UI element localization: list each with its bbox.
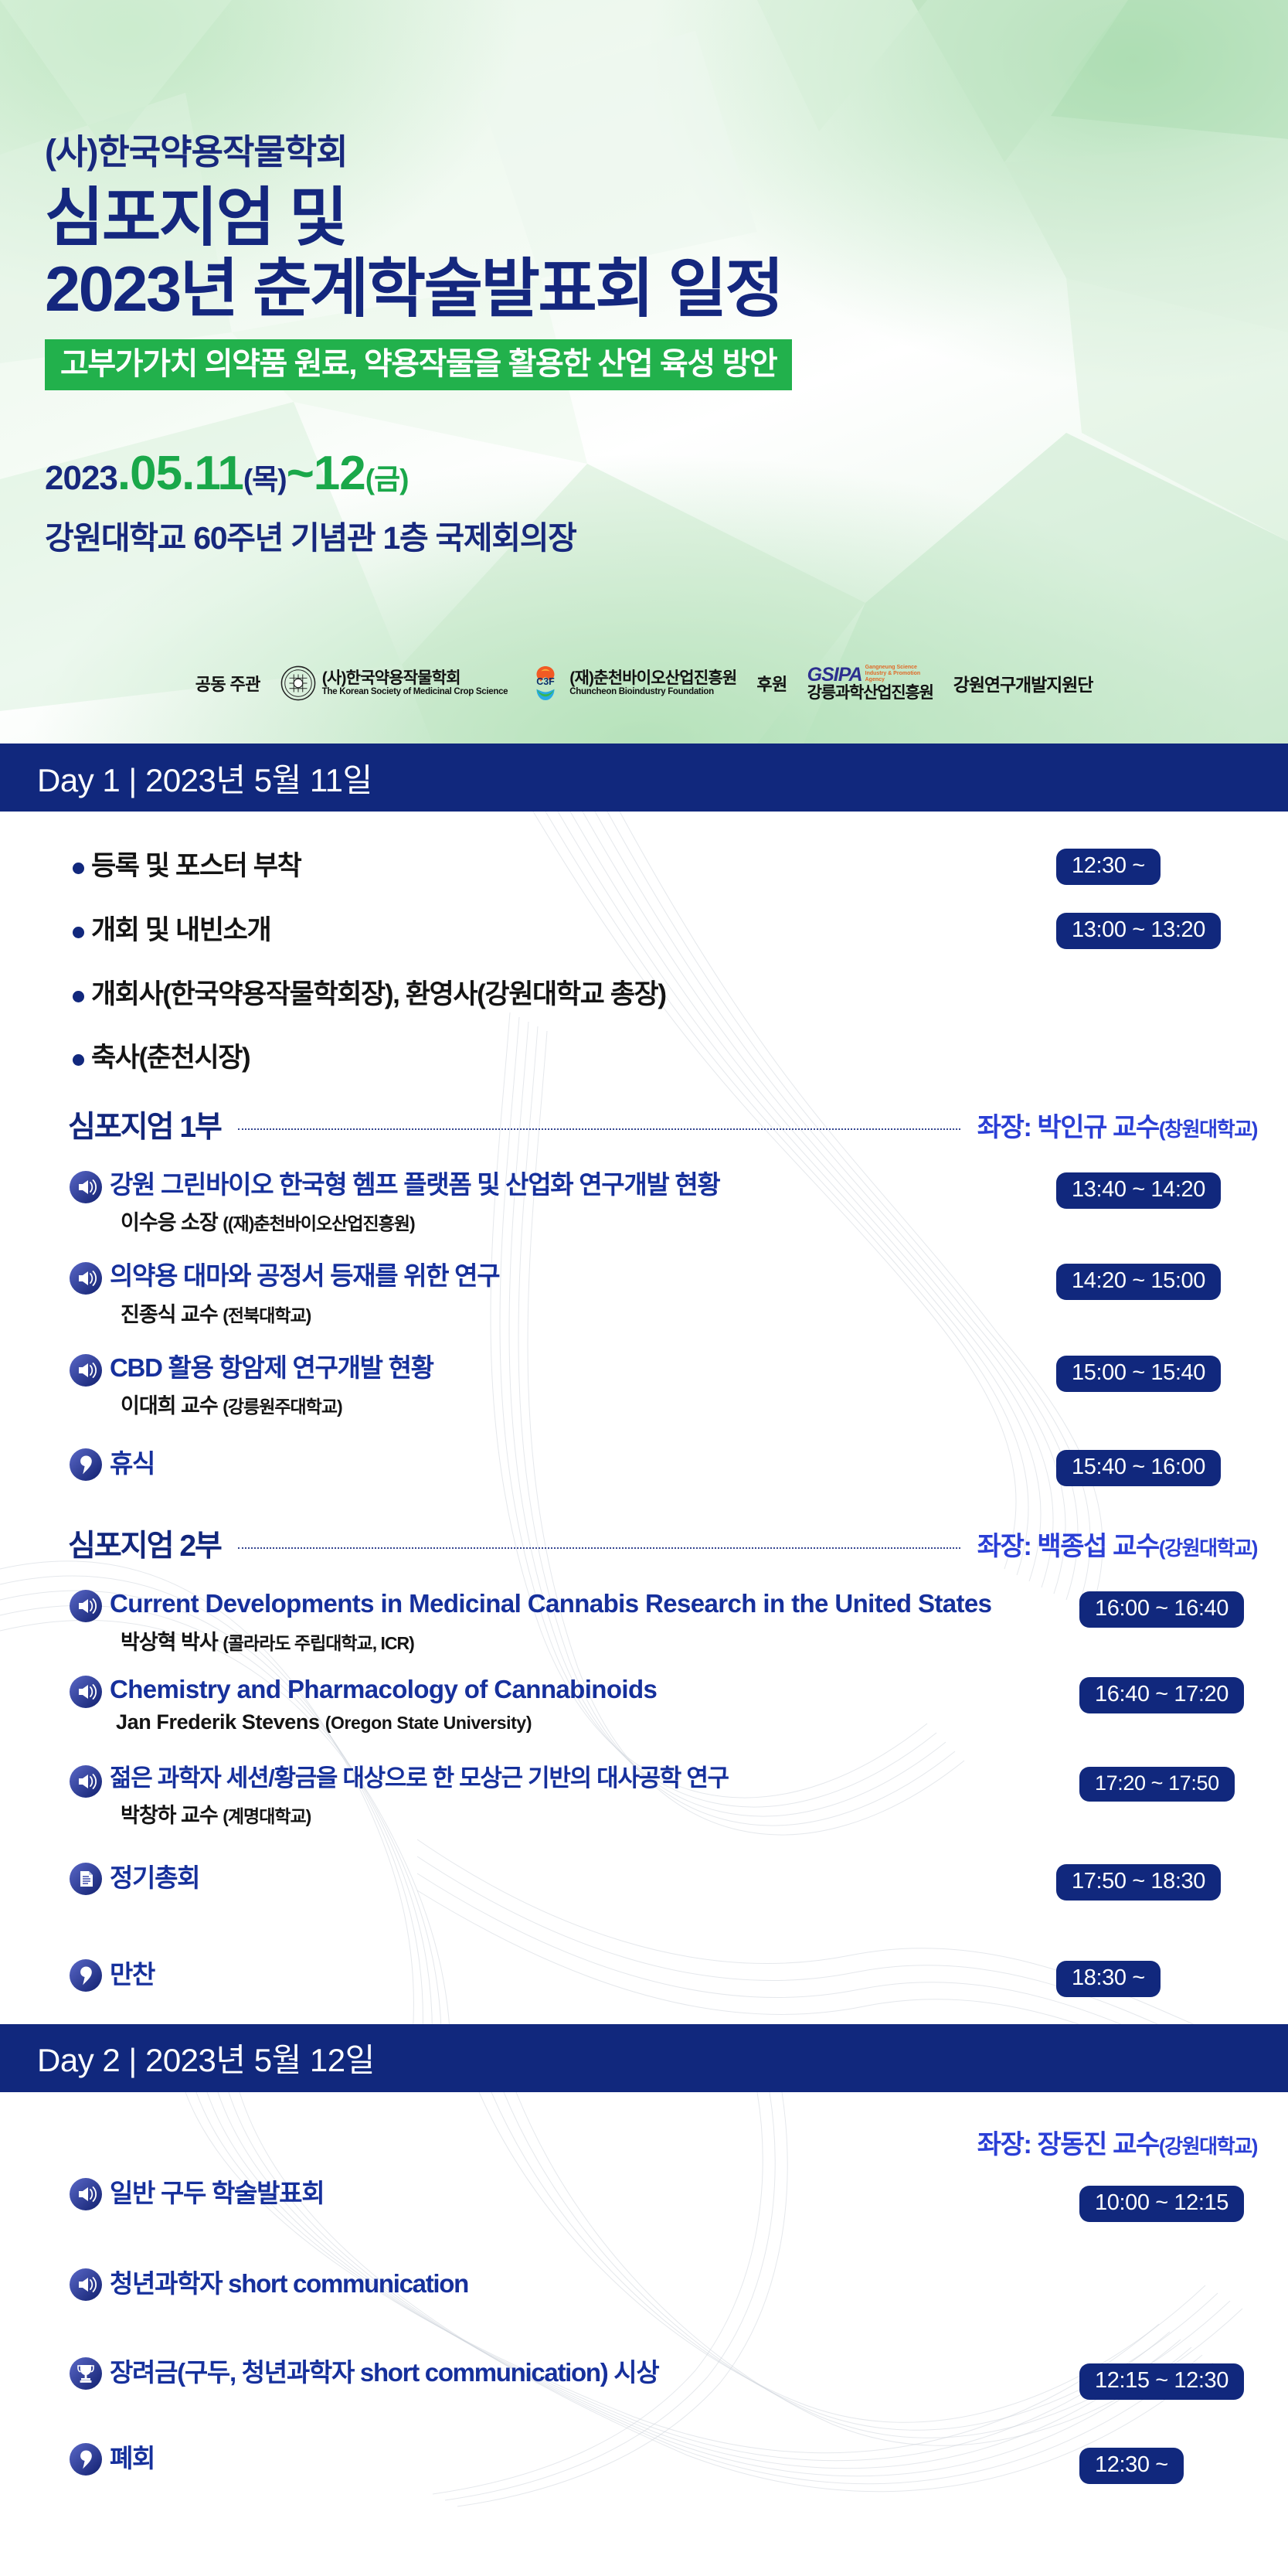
page-title: 심포지엄 및 2023년 춘계학술발표회 일정 [45,182,1204,326]
schedule-row: Current Developments in Medicinal Cannab… [0,1588,1288,1666]
speaker-name: 진종식 교수 [121,1303,218,1326]
bullet-dot-icon [73,991,84,1002]
item-title: 등록 및 포스터 부착 [91,849,1056,884]
time-badge: 16:40 ~ 17:20 [1079,1677,1244,1713]
talk-title: 의약용 대마와 공정서 등재를 위한 연구 [110,1261,1056,1291]
speaker-icon [70,1676,102,1708]
date-tilde: ~ [287,447,314,500]
talk-title: CBD 활용 항암제 연구개발 현황 [110,1353,1056,1383]
speaker-affiliation: (계명대학교) [223,1806,311,1826]
cohost-label: 공동 주관 [195,671,260,696]
bullet-dot-icon [73,863,84,874]
speaker-affiliation: (강릉원주대학교) [223,1397,342,1417]
event-venue: 강원대학교 60주년 기념관 1층 국제회의장 [45,512,1204,558]
gsipa-wordmark: GSIPA [807,665,862,685]
chair-affiliation: (강원대학교) [1159,2135,1257,2158]
speaker-affiliation: (콜라라도 주립대학교, ICR) [223,1633,414,1653]
talk-speaker: 박창하 교수 (계명대학교) [110,1798,1079,1829]
item-title: 개회사(한국약용작물학회장), 환영사(강원대학교 총장) [91,977,1056,1012]
svg-text:C3F: C3F [537,676,556,687]
date-day-2: 12 [314,447,365,500]
chair-affiliation: (창원대학교) [1159,1118,1257,1141]
speaker-icon [70,1262,102,1295]
cbf-name-ko: (재)춘천바이오산업진흥원 [569,669,736,688]
session-title: 심포지엄 1부 [68,1103,221,1146]
title-line-2: 2023년 춘계학술발표회 일정 [45,254,1204,325]
kmcs-text: (사)한국약용작물학회 The Korean Society of Medici… [322,669,508,697]
time-badge: 17:20 ~ 17:50 [1079,1767,1235,1802]
session-title: 일반 구두 학술발표회 [68,2178,1079,2209]
time-badge: 12:15 ~ 12:30 [1079,2363,1244,2400]
day-1-header: Day 1 | 2023년 5월 11일 [0,744,1288,812]
bullet-dot-icon [73,1054,84,1066]
meeting-title: 정기총회 [68,1863,1056,1894]
meeting-item: 정기총회 [0,1863,1056,1894]
kmcs-name-en: The Korean Society of Medicinal Crop Sci… [322,687,508,697]
schedule-row: 개회 및 내빈소개 13:00 ~ 13:20 [0,913,1288,949]
talk-title: 강원 그린바이오 한국형 헴프 플랫폼 및 산업화 연구개발 현황 [110,1169,1056,1200]
time-badge: 18:30 ~ [1056,1961,1161,1997]
kmcs-name-ko: (사)한국약용작물학회 [322,669,508,688]
day-1-schedule: 등록 및 포스터 부착 12:30 ~ 개회 및 내빈소개 13:00 ~ 13… [0,812,1288,2024]
coffee-break-icon [70,1959,102,1992]
speaker-icon [70,1354,102,1387]
time-badge: 13:40 ~ 14:20 [1056,1172,1221,1209]
chair-name: 좌장: 장동진 교수 [977,2130,1159,2159]
sponsor-gwrdc: 강원연구개발지원단 [953,670,1093,696]
kmcs-seal-icon [280,665,316,701]
item-title: 개회 및 내빈소개 [91,913,1056,948]
gsipa-subtext: Gangneung Science Industry & Promotion A… [865,665,932,683]
item-title: 축사(춘천시장) [91,1040,1056,1076]
speaker-affiliation: ((재)춘천바이오산업진흥원) [223,1213,414,1234]
schedule-row: 휴식 15:40 ~ 16:00 [0,1448,1288,1490]
schedule-row: 등록 및 포스터 부착 12:30 ~ [0,849,1288,885]
sponsor-gsipa: GSIPA Gangneung Science Industry & Promo… [807,665,933,702]
closing-item: 폐회 [0,2443,1079,2474]
speaker-affiliation: (전북대학교) [223,1305,311,1325]
speaker-name: Jan Frederik Stevens [116,1710,320,1734]
time-badge: 13:00 ~ 13:20 [1056,913,1221,949]
talk-speaker: 진종식 교수 (전북대학교) [110,1298,1056,1328]
session-chair: 좌장: 장동진 교수(강원대학교) [977,2123,1257,2161]
day-1-label: Day 1 | 2023년 5월 11일 [37,754,372,801]
talk-item: CBD 활용 항암제 연구개발 현황 이대희 교수 (강릉원주대학교) [0,1353,1056,1419]
talk-speaker: 박상혁 박사 (콜라라도 주립대학교, ICR) [110,1625,1048,1656]
title-line-1: 심포지엄 및 [45,182,1204,254]
date-day-1: 11 [194,447,243,500]
subtitle-banner: 고부가가치 의약품 원료, 약용작물을 활용한 산업 육성 방안 [45,339,792,390]
talk-title: Current Developments in Medicinal Cannab… [110,1588,1048,1619]
speaker-name: 박상혁 박사 [121,1631,218,1654]
coffee-break-icon [70,1448,102,1481]
sponsor-kmcs: (사)한국약용작물학회 The Korean Society of Medici… [280,665,508,701]
date-dow-1: (목) [243,464,287,495]
time-badge: 14:20 ~ 15:00 [1056,1264,1221,1300]
time-badge: 15:40 ~ 16:00 [1056,1450,1221,1486]
award-item: 장려금(구두, 청년과학자 short communication) 시상 [0,2357,1079,2388]
symposium-schedule-poster: (사)한국약용작물학회 심포지엄 및 2023년 춘계학술발표회 일정 고부가가… [0,0,1288,2576]
day-2-chair-row: 좌장: 장동진 교수(강원대학교) [0,2123,1288,2161]
speaker-icon [70,2268,102,2301]
speaker-name: 이대희 교수 [121,1394,218,1417]
speaker-icon [70,1171,102,1203]
talk-title: 젊은 과학자 세션/황금을 대상으로 한 모상근 기반의 대사공학 연구 [110,1764,1079,1793]
day-2-label: Day 2 | 2023년 5월 12일 [37,2034,375,2081]
schedule-row: 정기총회 17:50 ~ 18:30 [0,1863,1288,1904]
gsipa-name-ko: 강릉과학산업진흥원 [807,685,933,702]
talk-item: Chemistry and Pharmacology of Cannabinoi… [0,1674,1079,1734]
date-dot-2: . [182,447,194,500]
talk-item: 강원 그린바이오 한국형 헴프 플랫폼 및 산업화 연구개발 현황 이수응 소장… [0,1169,1056,1236]
talk-item: 젊은 과학자 세션/황금을 대상으로 한 모상근 기반의 대사공학 연구 박창하… [0,1764,1079,1829]
speaker-icon [70,1765,102,1798]
support-label: 후원 [756,671,787,696]
time-badge: 16:00 ~ 16:40 [1079,1591,1244,1628]
talk-speaker: 이수응 소장 ((재)춘천바이오산업진흥원) [110,1206,1056,1236]
dotted-separator [238,1547,960,1549]
session-title: 심포지엄 2부 [68,1522,221,1565]
closing-title: 폐회 [68,2443,1079,2474]
talk-item: 의약용 대마와 공정서 등재를 위한 연구 진종식 교수 (전북대학교) [0,1261,1056,1327]
date-month: 05 [130,447,182,500]
dinner-title: 만찬 [68,1959,1056,1990]
schedule-row: 의약용 대마와 공정서 등재를 위한 연구 진종식 교수 (전북대학교) 14:… [0,1261,1288,1338]
schedule-row: 개회사(한국약용작물학회장), 환영사(강원대학교 총장) [0,977,1288,1012]
schedule-row: 일반 구두 학술발표회 10:00 ~ 12:15 [0,2178,1288,2222]
break-title: 휴식 [68,1448,1056,1479]
session-item: 청년과학자 short communication [0,2268,1079,2299]
chair-name: 좌장: 박인규 교수 [977,1113,1159,1142]
chair-name: 좌장: 백종섭 교수 [977,1532,1159,1561]
speaker-icon [70,2178,102,2210]
time-badge: 12:30 ~ [1056,849,1161,885]
speaker-name: 이수응 소장 [121,1211,218,1234]
speaker-name: 박창하 교수 [121,1804,218,1827]
sponsor-cbf: C3F (재)춘천바이오산업진흥원 Chuncheon Bioindustry … [528,665,736,702]
schedule-row: 축사(춘천시장) [0,1040,1288,1076]
session-item: 일반 구두 학술발표회 [0,2178,1079,2209]
time-badge: 15:00 ~ 15:40 [1056,1356,1221,1392]
poster-hero: (사)한국약용작물학회 심포지엄 및 2023년 춘계학술발표회 일정 고부가가… [0,0,1288,744]
award-title: 장려금(구두, 청년과학자 short communication) 시상 [68,2357,1079,2388]
session-header-part-2: 심포지엄 2부 좌장: 백종섭 교수(강원대학교) [0,1522,1288,1565]
schedule-row: 폐회 12:30 ~ [0,2443,1288,2485]
date-dot-1: . [117,447,130,500]
organizer-name: (사)한국약용작물학회 [45,133,1204,172]
cbf-text: (재)춘천바이오산업진흥원 Chuncheon Bioindustry Foun… [569,669,736,697]
schedule-row: CBD 활용 항암제 연구개발 현황 이대희 교수 (강릉원주대학교) 15:0… [0,1353,1288,1430]
schedule-row: 장려금(구두, 청년과학자 short communication) 시상 12… [0,2357,1288,2400]
time-badge: 10:00 ~ 12:15 [1079,2186,1244,2222]
session-chair: 좌장: 박인규 교수(창원대학교) [977,1106,1257,1144]
talk-speaker: Jan Frederik Stevens (Oregon State Unive… [110,1710,1079,1734]
session-header-part-1: 심포지엄 1부 좌장: 박인규 교수(창원대학교) [0,1103,1288,1146]
session-chair: 좌장: 백종섭 교수(강원대학교) [977,1525,1257,1563]
session-title: 청년과학자 short communication [68,2268,1079,2299]
talk-speaker: 이대희 교수 (강릉원주대학교) [110,1389,1056,1419]
chair-affiliation: (강원대학교) [1159,1536,1257,1560]
talk-title: Chemistry and Pharmacology of Cannabinoi… [110,1674,1079,1705]
coffee-break-icon [70,2443,102,2476]
break-item: 휴식 [0,1448,1056,1479]
schedule-row: Chemistry and Pharmacology of Cannabinoi… [0,1674,1288,1745]
event-date: 2023.05.11(목)~12(금) [45,446,1204,501]
dotted-separator [238,1128,960,1130]
sponsors-row: 공동 주관 (사)한국약용작물학회 The Korean Society of … [0,665,1288,702]
day-2-schedule: 좌장: 장동진 교수(강원대학교) 일반 구두 학술발표회 10:00 ~ 12… [0,2092,1288,2516]
time-badge: 12:30 ~ [1079,2448,1184,2484]
time-badge: 17:50 ~ 18:30 [1056,1864,1221,1901]
speaker-affiliation: (Oregon State University) [325,1713,532,1733]
date-year: 2023 [45,459,117,497]
day-2-header: Day 2 | 2023년 5월 12일 [0,2024,1288,2092]
document-icon [70,1863,102,1895]
trophy-icon [70,2357,102,2390]
schedule-row: 청년과학자 short communication [0,2268,1288,2310]
dinner-item: 만찬 [0,1959,1056,1990]
schedule-row: 젊은 과학자 세션/황금을 대상으로 한 모상근 기반의 대사공학 연구 박창하… [0,1764,1288,1839]
schedule-row: 만찬 18:30 ~ [0,1959,1288,2001]
bullet-dot-icon [73,927,84,938]
cbf-logo-icon: C3F [528,665,563,702]
talk-item: Current Developments in Medicinal Cannab… [0,1588,1079,1655]
speaker-icon [70,1590,102,1622]
cbf-name-en: Chuncheon Bioindustry Foundation [569,687,736,697]
date-dow-2: (금) [365,464,409,495]
schedule-row: 강원 그린바이오 한국형 헴프 플랫폼 및 산업화 연구개발 현황 이수응 소장… [0,1169,1288,1247]
